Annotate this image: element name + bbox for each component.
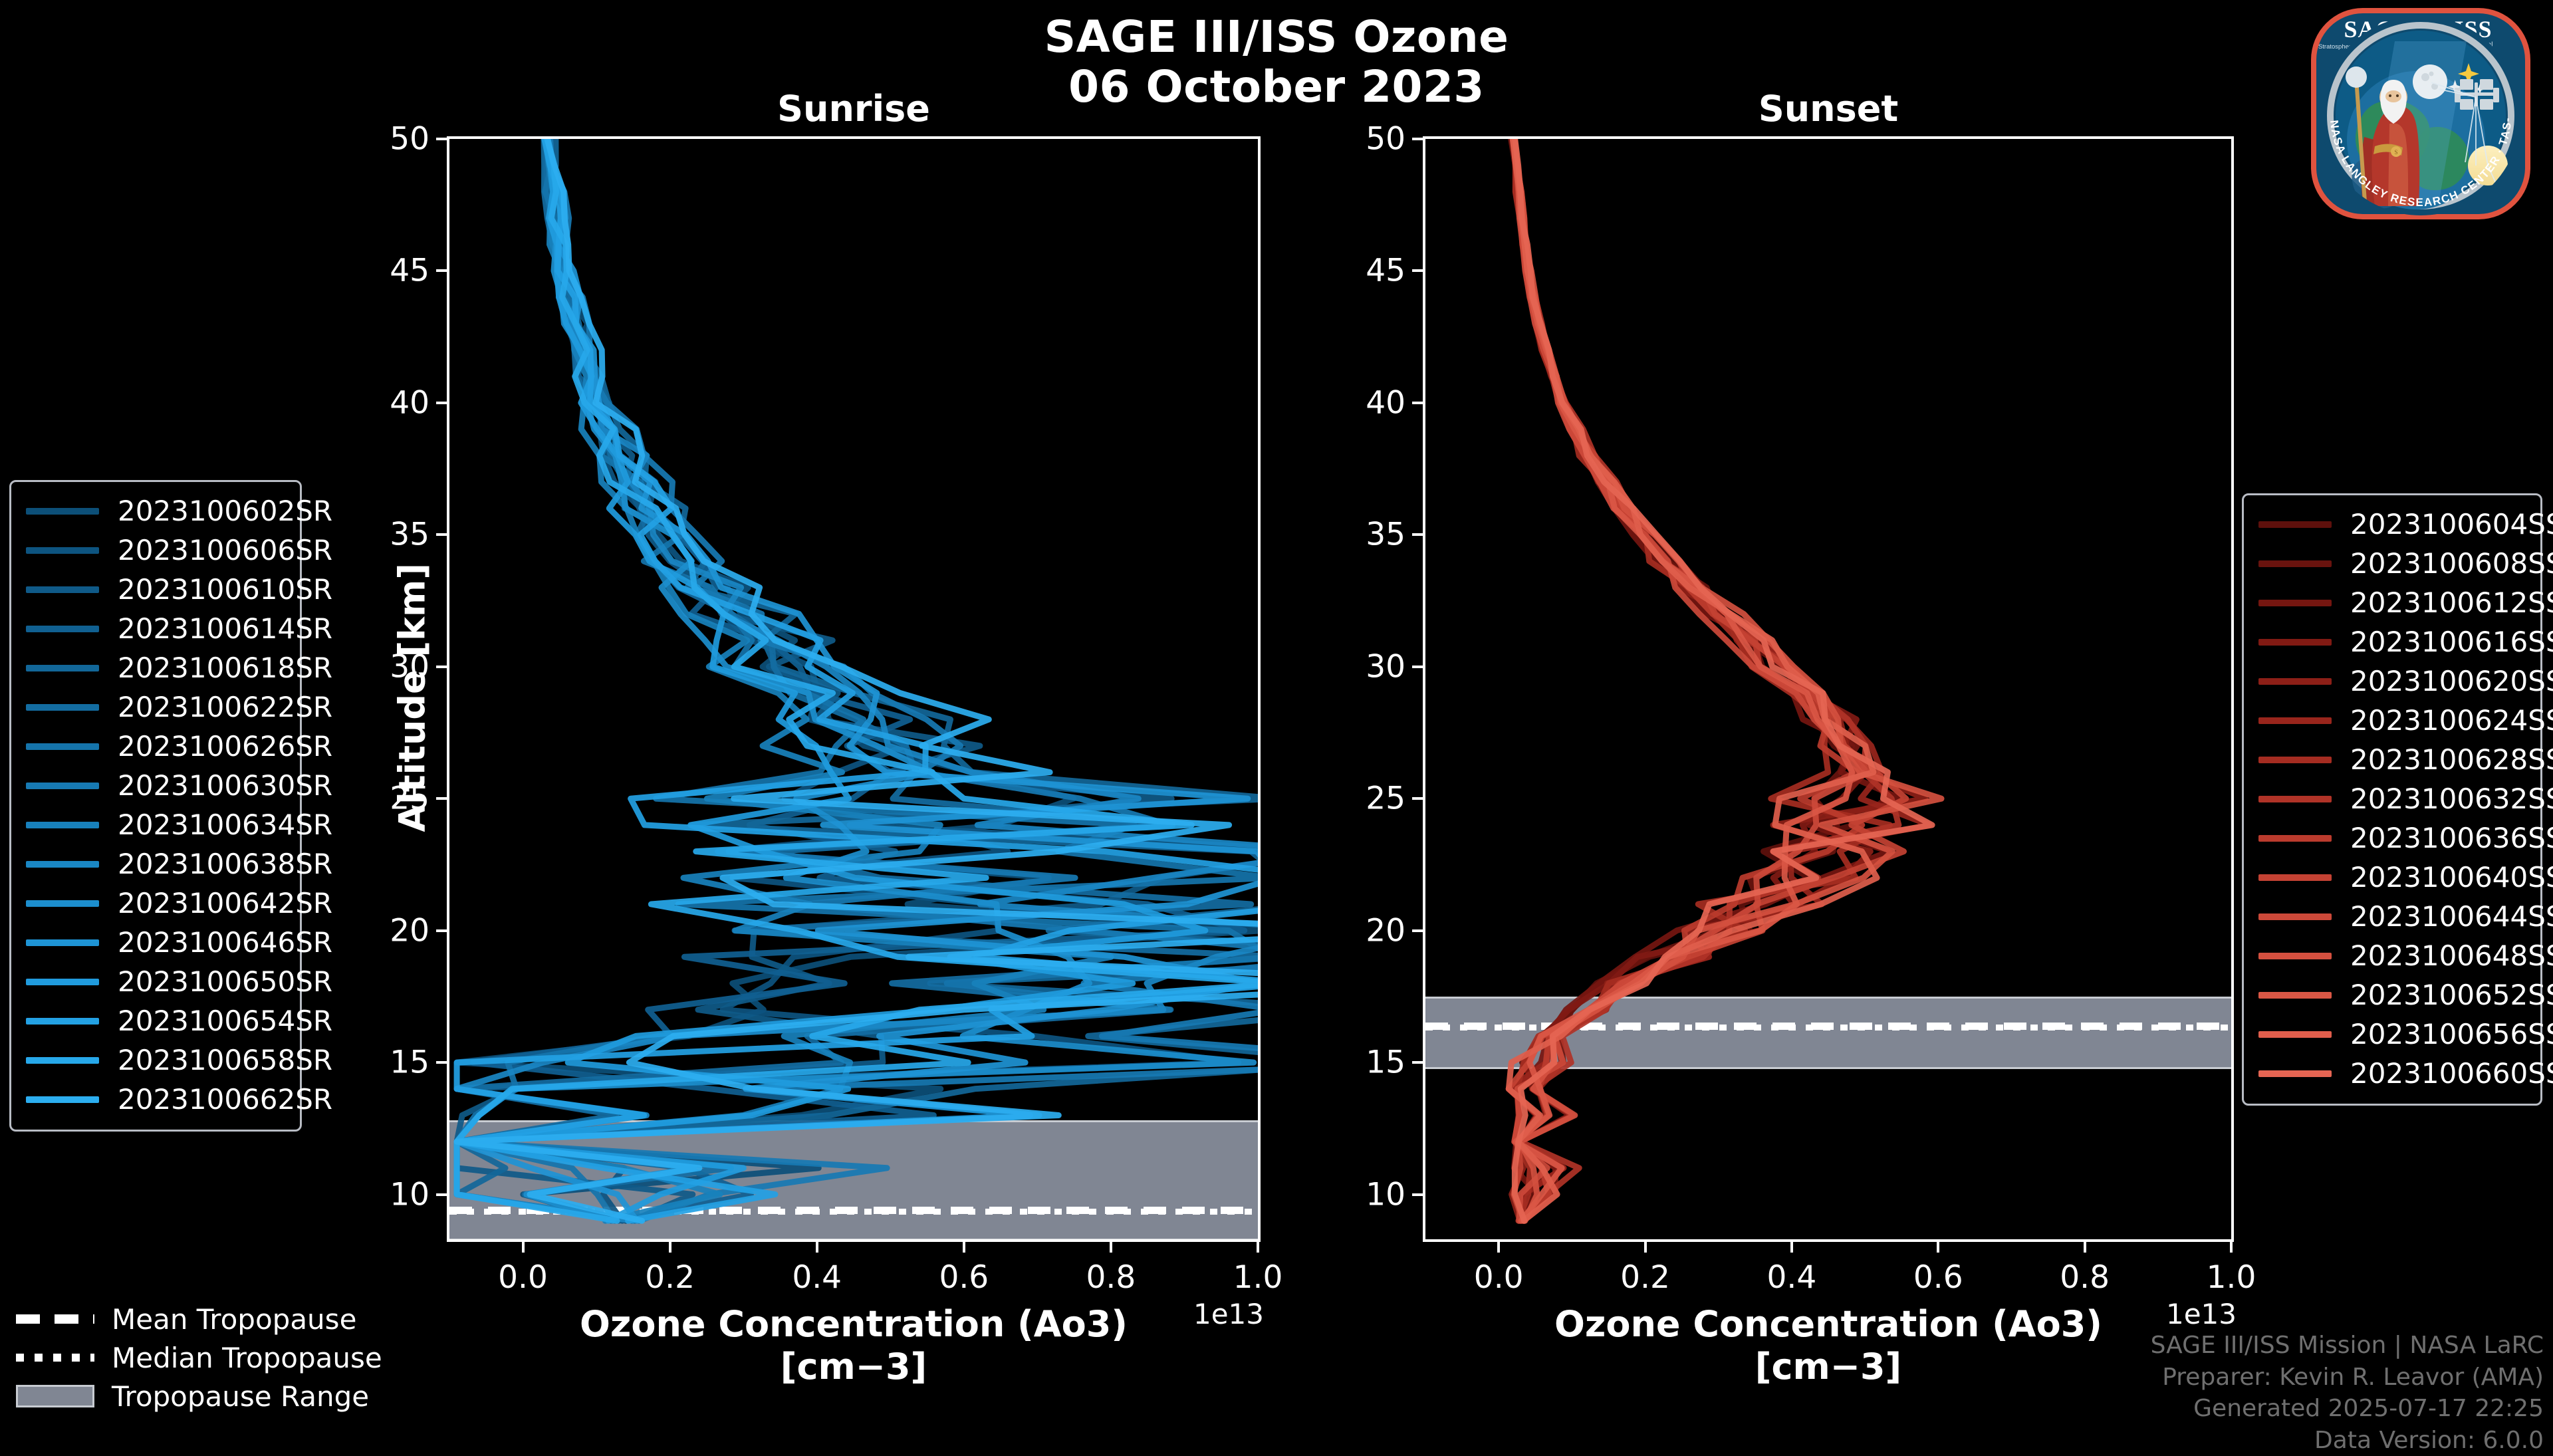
y-tick-label: 15 [1366, 1044, 1405, 1081]
panel-title-sunrise: Sunrise [447, 88, 1261, 130]
legend-item[interactable]: 2023100660SS [2258, 1054, 2527, 1093]
legend-item[interactable]: 2023100610SR [26, 570, 287, 609]
x-axis-units-sunrise: [cm−3] [447, 1346, 1261, 1388]
y-tick-label: 15 [390, 1044, 429, 1081]
x-axis-label-text-sunrise: Ozone Concentration (Ao3) [580, 1303, 1128, 1345]
y-tick [1412, 138, 1425, 140]
dotted-line-icon [16, 1354, 94, 1362]
legend-item[interactable]: 2023100620SS [2258, 662, 2527, 701]
legend-item[interactable]: 2023100612SS [2258, 583, 2527, 622]
legend-item[interactable]: 2023100602SR [26, 491, 287, 531]
x-tick-label: 0.6 [1913, 1259, 1963, 1296]
legend-item[interactable]: 2023100652SS [2258, 975, 2527, 1015]
dashed-line-icon [16, 1314, 94, 1324]
legend-item[interactable]: 2023100608SS [2258, 544, 2527, 583]
filled-band-icon [16, 1385, 94, 1407]
legend-tropopause: Mean Tropopause Median Tropopause Tropop… [16, 1300, 382, 1415]
legend-color-swatch [2258, 1031, 2332, 1038]
x-tick-label: 0.0 [1474, 1259, 1524, 1296]
legend-color-swatch [26, 1018, 99, 1025]
plot-area-sunrise: 1015202530354045500.00.20.40.60.81.0 [447, 136, 1261, 1242]
legend-item-label: 2023100622SR [118, 691, 332, 723]
y-tick [1412, 797, 1425, 800]
legend-sunset[interactable]: 2023100604SS2023100608SS2023100612SS2023… [2242, 493, 2542, 1106]
legend-color-swatch [26, 704, 99, 711]
legend-item[interactable]: 2023100638SR [26, 844, 287, 884]
y-tick-label: 40 [1366, 384, 1405, 421]
x-tick [1790, 1239, 1793, 1253]
ozone-profile-curves-sunset [1425, 139, 2231, 1239]
y-tick-label: 50 [390, 121, 429, 158]
legend-item[interactable]: 2023100618SR [26, 648, 287, 687]
legend-color-swatch [2258, 757, 2332, 763]
legend-item-label: 2023100602SR [118, 495, 332, 527]
legend-color-swatch [26, 743, 99, 750]
legend-item-label: 2023100640SS [2350, 861, 2553, 894]
y-tick [436, 533, 449, 536]
legend-item[interactable]: 2023100604SS [2258, 505, 2527, 544]
legend-item-label: 2023100604SS [2350, 508, 2553, 541]
legend-color-swatch [26, 900, 99, 907]
y-tick [1412, 666, 1425, 668]
y-tick-label: 25 [1366, 781, 1405, 817]
x-tick-label: 0.8 [1086, 1259, 1136, 1296]
y-tick [436, 666, 449, 668]
legend-item-label: 2023100662SR [118, 1083, 332, 1116]
legend-item-label: 2023100654SR [118, 1005, 332, 1037]
x-axis-label-sunset: Ozone Concentration (Ao3) [cm−3] [1423, 1303, 2234, 1388]
legend-item-label: 2023100660SS [2350, 1057, 2553, 1090]
legend-item[interactable]: 2023100654SR [26, 1001, 287, 1040]
ozone-profile-line [1515, 139, 1899, 1221]
legend-color-swatch [2258, 835, 2332, 842]
legend-color-swatch [2258, 796, 2332, 802]
legend-item[interactable]: 2023100640SS [2258, 858, 2527, 897]
legend-item-label: 2023100608SS [2350, 547, 2553, 580]
legend-item-label: 2023100632SS [2350, 783, 2553, 815]
y-tick-label: 35 [1366, 517, 1405, 553]
legend-item-label: 2023100646SR [118, 926, 332, 959]
credits-block: SAGE III/ISS Mission | NASA LaRC Prepare… [2151, 1330, 2544, 1456]
y-tick [1412, 929, 1425, 932]
legend-item-label: 2023100612SS [2350, 586, 2553, 619]
legend-item-label: 2023100634SR [118, 808, 332, 841]
legend-item[interactable]: 2023100644SS [2258, 897, 2527, 936]
legend-item[interactable]: 2023100648SS [2258, 936, 2527, 975]
x-tick-label: 0.2 [645, 1259, 695, 1296]
legend-color-swatch [2258, 521, 2332, 528]
legend-item[interactable]: 2023100624SS [2258, 701, 2527, 740]
y-tick [1412, 533, 1425, 536]
y-tick [1412, 1193, 1425, 1196]
credit-data-version: Data Version: 6.0.0 [2151, 1425, 2544, 1456]
legend-color-swatch [2258, 992, 2332, 999]
y-tick [1412, 402, 1425, 404]
y-tick-label: 10 [390, 1176, 429, 1213]
legend-item-label: 2023100644SS [2350, 900, 2553, 933]
credit-preparer: Preparer: Kevin R. Leavor (AMA) [2151, 1362, 2544, 1394]
legend-item[interactable]: 2023100616SS [2258, 622, 2527, 662]
legend-item-label: 2023100638SR [118, 848, 332, 880]
plot-area-sunset: 1015202530354045500.00.20.40.60.81.0 [1423, 136, 2234, 1242]
y-tick [436, 138, 449, 140]
legend-color-swatch [26, 783, 99, 789]
x-axis-exponent-sunset: 1e13 [2166, 1298, 2237, 1330]
legend-item[interactable]: 2023100614SR [26, 609, 287, 648]
legend-item-label: 2023100610SR [118, 573, 332, 606]
x-tick [1497, 1239, 1500, 1253]
legend-color-swatch [26, 508, 99, 515]
y-tick [436, 402, 449, 404]
x-axis-exponent-sunrise: 1e13 [1193, 1298, 1264, 1330]
legend-item-label: 2023100618SR [118, 652, 332, 684]
legend-color-swatch [2258, 953, 2332, 959]
y-tick-label: 45 [1366, 253, 1405, 289]
x-tick-label: 0.4 [792, 1259, 842, 1296]
y-tick-label: 20 [390, 912, 429, 949]
ozone-profile-line [1512, 139, 1925, 1221]
panel-title-sunset: Sunset [1423, 88, 2234, 130]
legend-color-swatch [2258, 874, 2332, 881]
legend-item-label: 2023100648SS [2350, 939, 2553, 972]
svg-text:S: S [2394, 149, 2397, 156]
figure-canvas: SAGE III/ISS Ozone 06 October 2023 Sunri… [0, 0, 2553, 1436]
y-tick [436, 1061, 449, 1064]
legend-color-swatch [26, 665, 99, 671]
legend-color-swatch [26, 1057, 99, 1064]
y-axis-label-sunrise: Altitude [km] [392, 566, 433, 832]
x-tick [522, 1239, 525, 1253]
y-tick-label: 30 [1366, 648, 1405, 685]
legend-color-swatch [2258, 1070, 2332, 1077]
y-tick [436, 929, 449, 932]
x-tick [1937, 1239, 1939, 1253]
credit-generated: Generated 2025-07-17 22:25 [2151, 1393, 2544, 1425]
legend-item-label: 2023100650SR [118, 965, 332, 998]
y-tick-label: 45 [390, 253, 429, 289]
legend-item[interactable]: 2023100622SR [26, 687, 287, 727]
legend-color-swatch [2258, 560, 2332, 567]
legend-item[interactable]: 2023100658SR [26, 1040, 287, 1080]
ozone-profile-line [1515, 139, 1932, 1221]
legend-item-label: 2023100624SS [2350, 704, 2553, 737]
x-tick [963, 1239, 965, 1253]
legend-color-swatch [26, 861, 99, 868]
legend-item[interactable]: 2023100634SR [26, 805, 287, 844]
x-tick-label: 0.6 [939, 1259, 989, 1296]
y-tick-label: 10 [1366, 1176, 1405, 1213]
x-tick [669, 1239, 671, 1253]
legend-color-swatch [26, 822, 99, 828]
legend-color-swatch [26, 626, 99, 632]
sage-iii-iss-mission-patch-logo: SAGE III ISS Stratospheric Aerosol and G… [2295, 4, 2546, 223]
plot-clip-sunrise [449, 139, 1258, 1239]
legend-item-label: 2023100658SR [118, 1044, 332, 1076]
y-tick-label: 20 [1366, 912, 1405, 949]
legend-item[interactable]: 2023100636SS [2258, 818, 2527, 858]
legend-label-median-tropopause: Median Tropopause [112, 1342, 382, 1374]
legend-item[interactable]: 2023100656SS [2258, 1015, 2527, 1054]
legend-item-label: 2023100620SS [2350, 665, 2553, 697]
x-tick [2084, 1239, 2086, 1253]
x-tick-label: 0.0 [498, 1259, 548, 1296]
x-tick-label: 1.0 [1233, 1259, 1283, 1296]
legend-item-label: 2023100628SS [2350, 743, 2553, 776]
x-tick [1644, 1239, 1647, 1253]
x-tick [2230, 1239, 2233, 1253]
legend-label-tropopause-range: Tropopause Range [112, 1380, 369, 1413]
x-tick [1257, 1239, 1259, 1253]
y-tick [1412, 269, 1425, 272]
x-axis-units-sunset: [cm−3] [1423, 1346, 2234, 1388]
legend-item-label: 2023100652SS [2350, 979, 2553, 1011]
legend-color-swatch [2258, 717, 2332, 724]
legend-color-swatch [26, 547, 99, 554]
x-axis-label-text-sunset: Ozone Concentration (Ao3) [1554, 1303, 2102, 1345]
y-tick-label: 50 [1366, 121, 1405, 158]
y-tick [436, 269, 449, 272]
legend-color-swatch [2258, 678, 2332, 685]
legend-item-label: 2023100626SR [118, 730, 332, 763]
legend-item[interactable]: 2023100646SR [26, 923, 287, 962]
legend-item-label: 2023100616SS [2350, 626, 2553, 658]
ozone-profile-curves-sunrise [449, 139, 1258, 1239]
legend-item[interactable]: 2023100606SR [26, 531, 287, 570]
x-tick [1110, 1239, 1112, 1253]
x-tick-label: 1.0 [2207, 1259, 2256, 1296]
legend-item[interactable]: 2023100628SS [2258, 740, 2527, 779]
x-axis-label-sunrise: Ozone Concentration (Ao3) [cm−3] [447, 1303, 1261, 1388]
legend-item[interactable]: 2023100632SS [2258, 779, 2527, 818]
legend-color-swatch [2258, 639, 2332, 646]
x-tick-label: 0.2 [1620, 1259, 1670, 1296]
legend-item-median-tropopause: Median Tropopause [16, 1338, 382, 1377]
x-tick-label: 0.8 [2060, 1259, 2110, 1296]
legend-item[interactable]: 2023100662SR [26, 1080, 287, 1119]
legend-item-label: 2023100614SR [118, 612, 332, 645]
legend-item[interactable]: 2023100650SR [26, 962, 287, 1001]
y-tick [1412, 1061, 1425, 1064]
legend-label-mean-tropopause: Mean Tropopause [112, 1303, 356, 1336]
plot-clip-sunset [1425, 139, 2231, 1239]
legend-item-tropopause-range: Tropopause Range [16, 1377, 382, 1415]
legend-color-swatch [26, 939, 99, 946]
y-tick [436, 1193, 449, 1196]
legend-item-label: 2023100630SR [118, 769, 332, 802]
y-tick-label: 35 [390, 517, 429, 553]
legend-color-swatch [26, 586, 99, 593]
legend-sunrise[interactable]: 2023100602SR2023100606SR2023100610SR2023… [9, 480, 302, 1132]
legend-item-mean-tropopause: Mean Tropopause [16, 1300, 382, 1338]
x-tick [816, 1239, 818, 1253]
credit-mission: SAGE III/ISS Mission | NASA LaRC [2151, 1330, 2544, 1362]
legend-item-label: 2023100642SR [118, 887, 332, 919]
legend-color-swatch [26, 979, 99, 985]
legend-item[interactable]: 2023100626SR [26, 727, 287, 766]
y-tick [436, 797, 449, 800]
legend-item-label: 2023100606SR [118, 534, 332, 566]
ozone-profile-line [1513, 139, 1867, 1221]
legend-item-label: 2023100656SS [2350, 1018, 2553, 1050]
legend-item-label: 2023100636SS [2350, 822, 2553, 854]
legend-color-swatch [2258, 600, 2332, 606]
legend-color-swatch [26, 1096, 99, 1103]
legend-item[interactable]: 2023100630SR [26, 766, 287, 805]
ozone-profile-line [1515, 139, 1941, 1221]
legend-item[interactable]: 2023100642SR [26, 884, 287, 923]
legend-color-swatch [2258, 913, 2332, 920]
title-line-1: SAGE III/ISS Ozone [1044, 11, 1509, 62]
y-tick-label: 40 [390, 384, 429, 421]
x-tick-label: 0.4 [1767, 1259, 1817, 1296]
